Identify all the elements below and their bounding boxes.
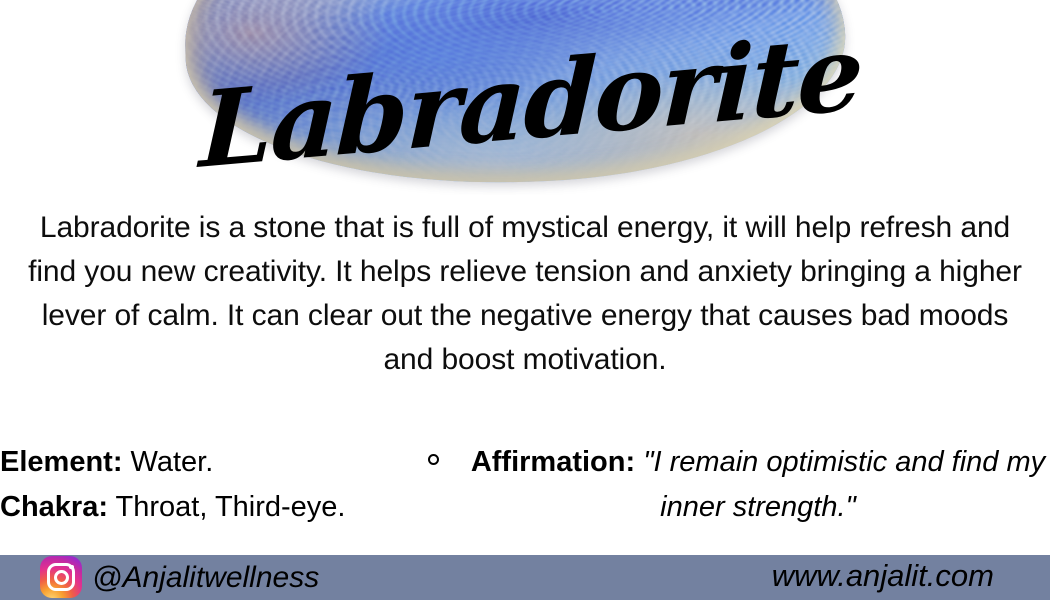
chakra-label: Chakra: xyxy=(0,491,108,523)
properties-section: Element: Water. Chakra: Throat, Third-ey… xyxy=(0,440,1050,540)
affirmation-label: Affirmation: xyxy=(471,446,635,478)
element-label: Element: xyxy=(0,446,122,478)
element-row: Element: Water. xyxy=(0,440,420,485)
website-url[interactable]: www.anjalit.com xyxy=(772,557,994,595)
element-chakra-block: Element: Water. Chakra: Throat, Third-ey… xyxy=(0,440,420,530)
instagram-handle[interactable]: @Anjalitwellness xyxy=(92,559,319,597)
crystal-info-card: Labradorite Labradorite is a stone that … xyxy=(0,0,1050,600)
stone-name-text: Labradorite xyxy=(198,20,863,183)
instagram-icon-lens xyxy=(54,570,69,585)
footer-bar: @Anjalitwellness www.anjalit.com xyxy=(0,555,1050,600)
chakra-value: Throat, Third-eye. xyxy=(116,491,346,523)
instagram-icon[interactable] xyxy=(40,556,82,598)
affirmation-block: Affirmation: "I remain optimistic and fi… xyxy=(420,440,1050,530)
affirmation-row: Affirmation: "I remain optimistic and fi… xyxy=(466,440,1050,530)
chakra-row: Chakra: Throat, Third-eye. xyxy=(0,485,420,530)
stone-name-title: Labradorite xyxy=(0,0,1050,195)
hero-section: Labradorite xyxy=(0,0,1050,195)
instagram-icon-dot xyxy=(69,565,74,570)
stone-description: Labradorite is a stone that is full of m… xyxy=(24,206,1026,382)
hollow-circle-bullet-icon xyxy=(428,454,439,465)
element-value: Water. xyxy=(131,446,214,478)
affirmation-quote: "I remain optimistic and find my inner s… xyxy=(643,446,1045,523)
